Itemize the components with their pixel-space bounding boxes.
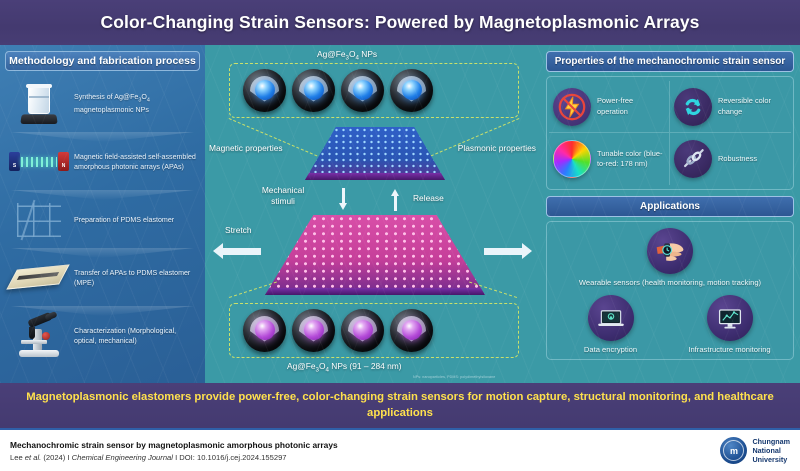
pink-photonic-array — [265, 215, 485, 295]
flow-step-label: Synthesis of Ag@Fe3O4 magnetoplasmonic N… — [74, 92, 197, 116]
property-tunable-color: Tunable color (blue-to-red: 178 nm) — [549, 133, 670, 185]
stretch-arrow-right — [484, 243, 532, 259]
microscope-icon — [8, 312, 70, 360]
stimuli-arrow-down — [339, 188, 348, 211]
magnet-pole-south: S — [9, 152, 20, 171]
application-label: Data encryption — [584, 345, 637, 354]
logo-line-2: National — [752, 446, 790, 455]
property-label: Reversible color change — [718, 96, 787, 117]
logo-line-1: Chungnam — [752, 437, 790, 446]
property-reversible-color: Reversible color change — [670, 81, 791, 133]
key-message-text: Magnetoplasmonic elastomers provide powe… — [16, 390, 784, 421]
nanoparticle — [243, 309, 286, 352]
release-label: Release — [413, 193, 444, 203]
fabrication-flow: Synthesis of Ag@Fe3O4 magnetoplasmonic N… — [5, 75, 200, 365]
magnet-pole-north: N — [58, 152, 69, 171]
citation-year: (2024) I — [41, 453, 71, 462]
application-data-encryption: Data encryption — [551, 295, 670, 354]
power-free-icon — [553, 88, 591, 126]
nanoparticle — [341, 69, 384, 112]
plasmonic-properties-label: Plasmonic properties — [458, 143, 536, 153]
release-arrow-up — [391, 188, 400, 211]
properties-applications-panel: Properties of the mechanochromic strain … — [540, 45, 800, 383]
beaker-icon — [8, 80, 70, 128]
nanoparticle — [292, 309, 335, 352]
article-title: Mechanochromic strain sensor by magnetop… — [10, 440, 720, 450]
film-transfer-icon — [8, 254, 70, 302]
flow-step-characterization: Characterization (Morphological, optical… — [5, 307, 200, 365]
university-logo: m Chungnam National University — [720, 437, 790, 464]
application-label: Wearable sensors (health monitoring, mot… — [579, 278, 761, 287]
mechanical-stimuli-label: Mechanical stimuli — [253, 185, 313, 206]
chain-link-icon — [674, 140, 712, 178]
logo-line-3: University — [752, 455, 790, 464]
citation-authors: Lee — [10, 453, 25, 462]
flow-step-pdms: Preparation of PDMS elastomer — [5, 191, 200, 249]
seal-mark: m — [730, 446, 738, 456]
synthesis-label-pre: Synthesis of Ag@Fe — [74, 93, 138, 101]
nanoparticle — [341, 309, 384, 352]
article-citation: Lee et al. (2024) I Chemical Engineering… — [10, 453, 720, 462]
monitor-chart-icon — [707, 295, 753, 341]
applications-card: Wearable sensors (health monitoring, mot… — [546, 221, 794, 360]
university-name: Chungnam National University — [752, 437, 790, 464]
abbreviation-footnote: NPs: nanoparticles, PDMS: polydimethylsi… — [413, 375, 495, 379]
methodology-heading: Methodology and fabrication process — [5, 51, 200, 71]
flow-step-label: Magnetic field-assisted self-assembled a… — [74, 152, 197, 173]
stretch-label: Stretch — [225, 225, 252, 235]
main-canvas: Methodology and fabrication process Synt… — [0, 45, 800, 383]
bottom-nanoparticle-row — [243, 309, 433, 352]
synthesis-label-post: magnetoplasmonic NPs — [74, 106, 149, 114]
page-title: Color-Changing Strain Sensors: Powered b… — [100, 12, 699, 33]
flow-step-label: Preparation of PDMS elastomer — [74, 215, 174, 225]
methodology-panel: Methodology and fabrication process Synt… — [0, 45, 205, 383]
properties-heading: Properties of the mechanochromic strain … — [546, 51, 794, 72]
nanoparticle — [243, 69, 286, 112]
stretch-arrow-left — [213, 243, 261, 259]
key-message-banner: Magnetoplasmonic elastomers provide powe… — [0, 383, 800, 428]
property-label: Robustness — [718, 154, 757, 164]
mechanism-diagram: Ag@Fe3O4 NPs Magnetic properties Plasmon… — [205, 45, 540, 383]
citation-etal: et al. — [25, 453, 41, 462]
flow-step-transfer: Transfer of APAs to PDMS elastomer (MPE) — [5, 249, 200, 307]
laptop-lock-icon — [588, 295, 634, 341]
property-power-free: Power-free operation — [549, 81, 670, 133]
wrist-wearable-icon — [647, 228, 693, 274]
application-infrastructure-monitoring: Infrastructure monitoring — [670, 295, 789, 354]
citation-block: Mechanochromic strain sensor by magnetop… — [10, 440, 720, 462]
footer-bar: Mechanochromic strain sensor by magnetop… — [0, 428, 800, 471]
header-bar: Color-Changing Strain Sensors: Powered b… — [0, 0, 800, 45]
sub-4: 4 — [147, 98, 150, 104]
university-seal-icon: m — [720, 437, 747, 464]
bottom-np-label: Ag@Fe3O4 NPs (91 – 284 nm) — [287, 361, 402, 374]
flow-step-label: Characterization (Morphological, optical… — [74, 326, 197, 347]
nanoparticle — [292, 69, 335, 112]
flow-step-synthesis: Synthesis of Ag@Fe3O4 magnetoplasmonic N… — [5, 75, 200, 133]
application-wearable: Wearable sensors (health monitoring, mot… — [551, 228, 789, 287]
flow-step-magnetic-assembly: S N Magnetic field-assisted self-assembl… — [5, 133, 200, 191]
nanoparticle — [390, 69, 433, 112]
polymer-grid-icon — [8, 196, 70, 244]
application-label: Infrastructure monitoring — [688, 345, 770, 354]
graphical-abstract: Color-Changing Strain Sensors: Powered b… — [0, 0, 800, 471]
particle-chain — [21, 157, 57, 167]
applications-row: Data encryption Infrastr — [551, 295, 789, 354]
color-wheel-icon — [553, 140, 591, 178]
citation-journal: Chemical Engineering Journal — [72, 453, 173, 462]
magnetic-properties-label: Magnetic properties — [209, 143, 283, 153]
magnet-icon: S N — [8, 138, 70, 186]
nanoparticle — [390, 309, 433, 352]
property-robustness: Robustness — [670, 133, 791, 185]
property-label: Tunable color (blue-to-red: 178 nm) — [597, 149, 665, 170]
top-np-label: Ag@Fe3O4 NPs — [317, 49, 377, 62]
flow-step-label: Transfer of APAs to PDMS elastomer (MPE) — [74, 268, 197, 289]
properties-grid: Power-free operation Reversible color ch… — [546, 76, 794, 190]
blue-photonic-array — [305, 127, 445, 180]
top-nanoparticle-row — [243, 69, 433, 112]
citation-doi: I DOI: 10.1016/j.cej.2024.155297 — [173, 453, 287, 462]
reversible-cycle-icon — [674, 88, 712, 126]
property-label: Power-free operation — [597, 96, 665, 117]
applications-heading: Applications — [546, 196, 794, 217]
